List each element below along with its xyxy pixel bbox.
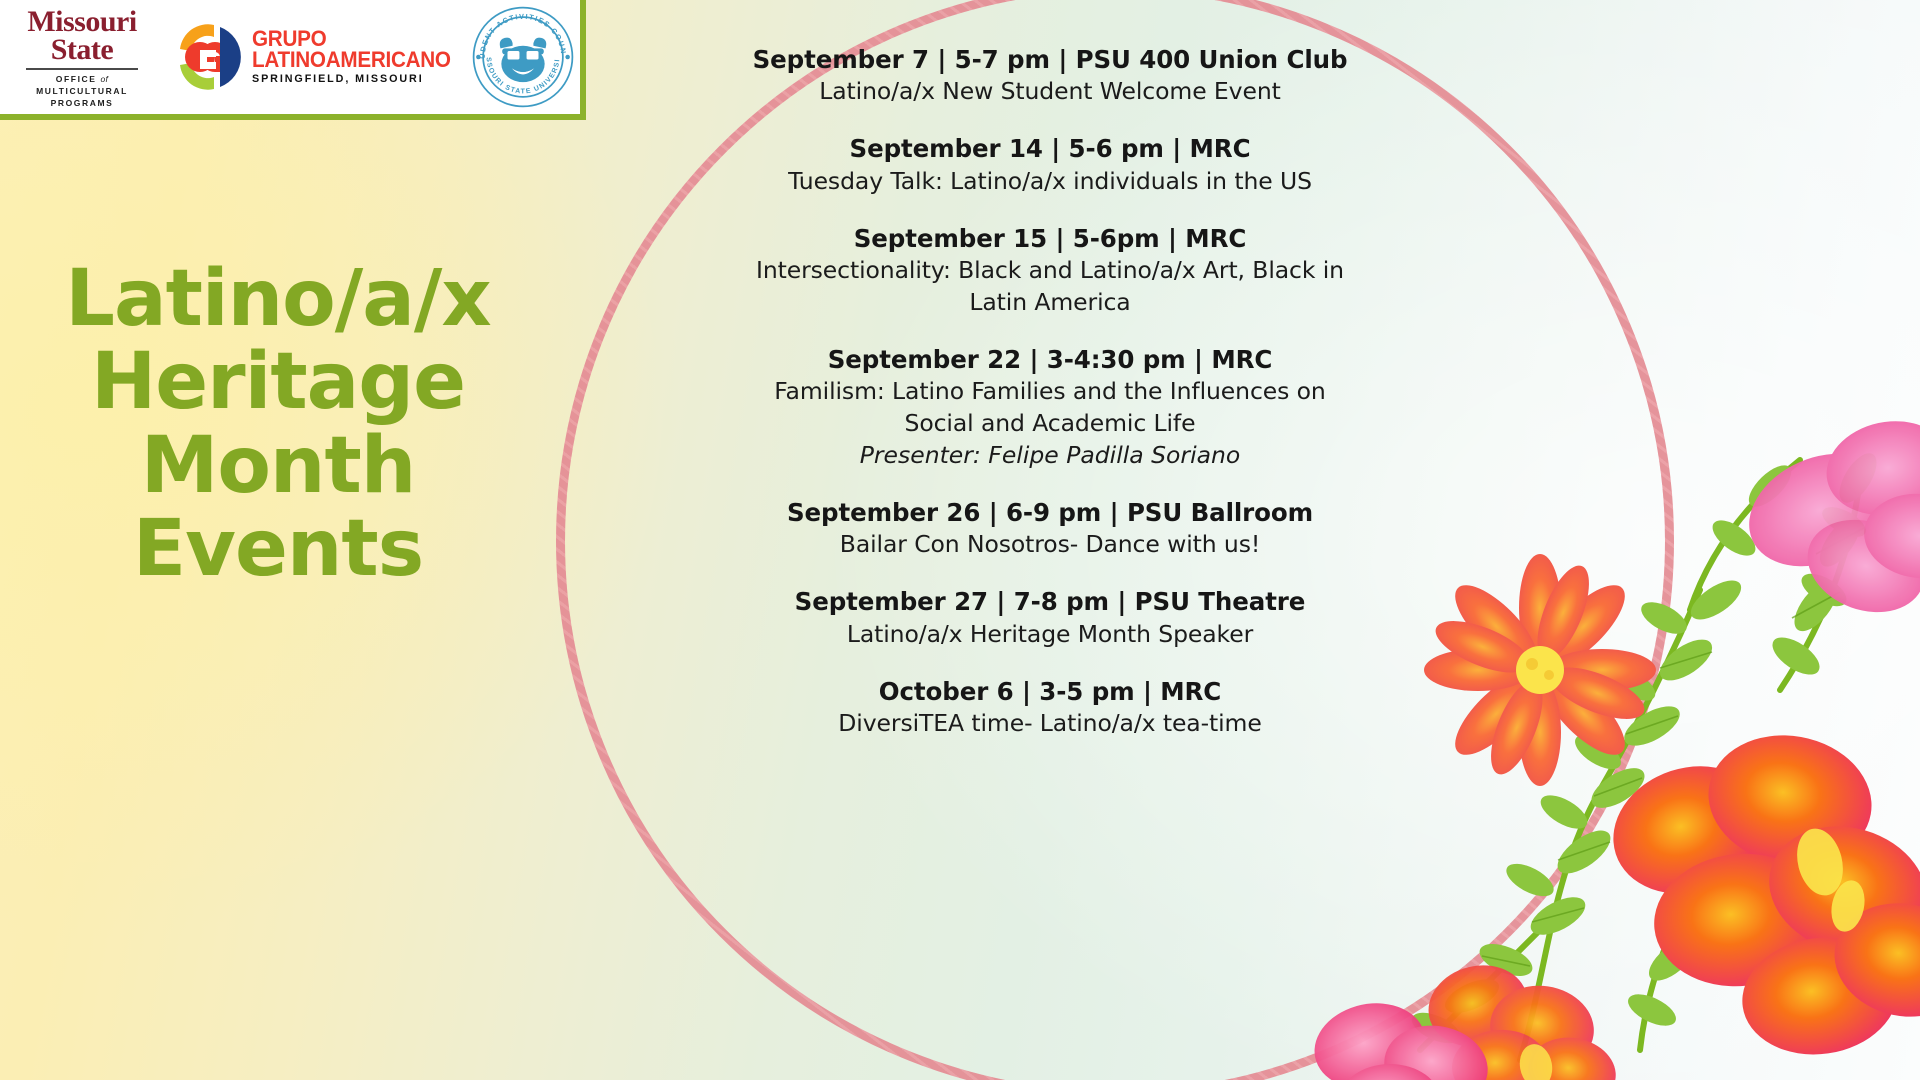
event-description-line: Social and Academic Life [700, 408, 1400, 440]
event-description-line: Tuesday Talk: Latino/a/x individuals in … [700, 166, 1400, 198]
logo-bar: Missouri State OFFICE of MULTICULTURAL P… [0, 0, 586, 120]
events-list: September 7 | 5-7 pm | PSU 400 Union Clu… [700, 44, 1400, 740]
grupo-latinoamericano-mark-icon [170, 19, 244, 95]
event-description-line: DiversiTEA time- Latino/a/x tea-time [700, 708, 1400, 740]
poster-canvas: Missouri State OFFICE of MULTICULTURAL P… [0, 0, 1920, 1080]
title-line-4: Events [0, 508, 556, 591]
grupo-city-label: SPRINGFIELD, MISSOURI [252, 73, 455, 85]
event-description-line: Latin America [700, 287, 1400, 319]
missouri-state-department: OFFICE of MULTICULTURAL PROGRAMS [36, 73, 128, 110]
event-description-line: Familism: Latino Families and the Influe… [700, 376, 1400, 408]
event-item: September 14 | 5-6 pm | MRC Tuesday Talk… [700, 133, 1400, 197]
event-heading: September 26 | 6-9 pm | PSU Ballroom [700, 497, 1400, 529]
event-item: September 22 | 3-4:30 pm | MRC Familism:… [700, 344, 1400, 472]
event-item: September 15 | 5-6pm | MRC Intersectiona… [700, 223, 1400, 319]
of-label: of [101, 74, 109, 84]
event-heading: September 27 | 7-8 pm | PSU Theatre [700, 586, 1400, 618]
event-heading: September 14 | 5-6 pm | MRC [700, 133, 1400, 165]
latinoamericano-label: LATINOAMERICANO [252, 50, 451, 71]
office-label: OFFICE [56, 74, 97, 84]
event-heading: September 22 | 3-4:30 pm | MRC [700, 344, 1400, 376]
event-item: September 7 | 5-7 pm | PSU 400 Union Clu… [700, 44, 1400, 108]
event-heading: September 15 | 5-6pm | MRC [700, 223, 1400, 255]
event-item: September 26 | 6-9 pm | PSU Ballroom Bai… [700, 497, 1400, 561]
missouri-state-word-missouri: Missouri [27, 8, 136, 36]
event-heading: October 6 | 3-5 pm | MRC [700, 676, 1400, 708]
event-heading: September 7 | 5-7 pm | PSU 400 Union Clu… [700, 44, 1400, 76]
grupo-latinoamericano-wordmark: GRUPO LATINOAMERICANO SPRINGFIELD, MISSO… [252, 29, 463, 86]
student-activities-council-seal: STUDENT ACTIVITIES COUNCIL MISSOURI STAT… [463, 0, 583, 114]
missouri-state-logo: Missouri State OFFICE of MULTICULTURAL P… [6, 0, 158, 114]
title-line-3: Month [0, 425, 556, 508]
office-of-line: OFFICE of [36, 73, 128, 85]
event-description-line: Bailar Con Nosotros- Dance with us! [700, 529, 1400, 561]
grupo-latinoamericano-logo: GRUPO LATINOAMERICANO SPRINGFIELD, MISSO… [158, 0, 463, 114]
multicultural-label: MULTICULTURAL [36, 85, 128, 97]
event-item: October 6 | 3-5 pm | MRC DiversiTEA time… [700, 676, 1400, 740]
programs-label: PROGRAMS [36, 97, 128, 109]
title-line-1: Latino/a/x [0, 258, 556, 341]
event-description-line: Latino/a/x Heritage Month Speaker [700, 619, 1400, 651]
event-item: September 27 | 7-8 pm | PSU Theatre Lati… [700, 586, 1400, 650]
page-title: Latino/a/x Heritage Month Events [0, 258, 556, 592]
event-description-line: Latino/a/x New Student Welcome Event [700, 76, 1400, 108]
event-presenter: Presenter: Felipe Padilla Soriano [700, 440, 1400, 472]
title-line-2: Heritage [0, 341, 556, 424]
missouri-state-divider [26, 68, 138, 70]
missouri-state-word-state: State [27, 36, 136, 64]
missouri-state-wordmark: Missouri State [27, 8, 136, 63]
event-description-line: Intersectionality: Black and Latino/a/x … [700, 255, 1400, 287]
